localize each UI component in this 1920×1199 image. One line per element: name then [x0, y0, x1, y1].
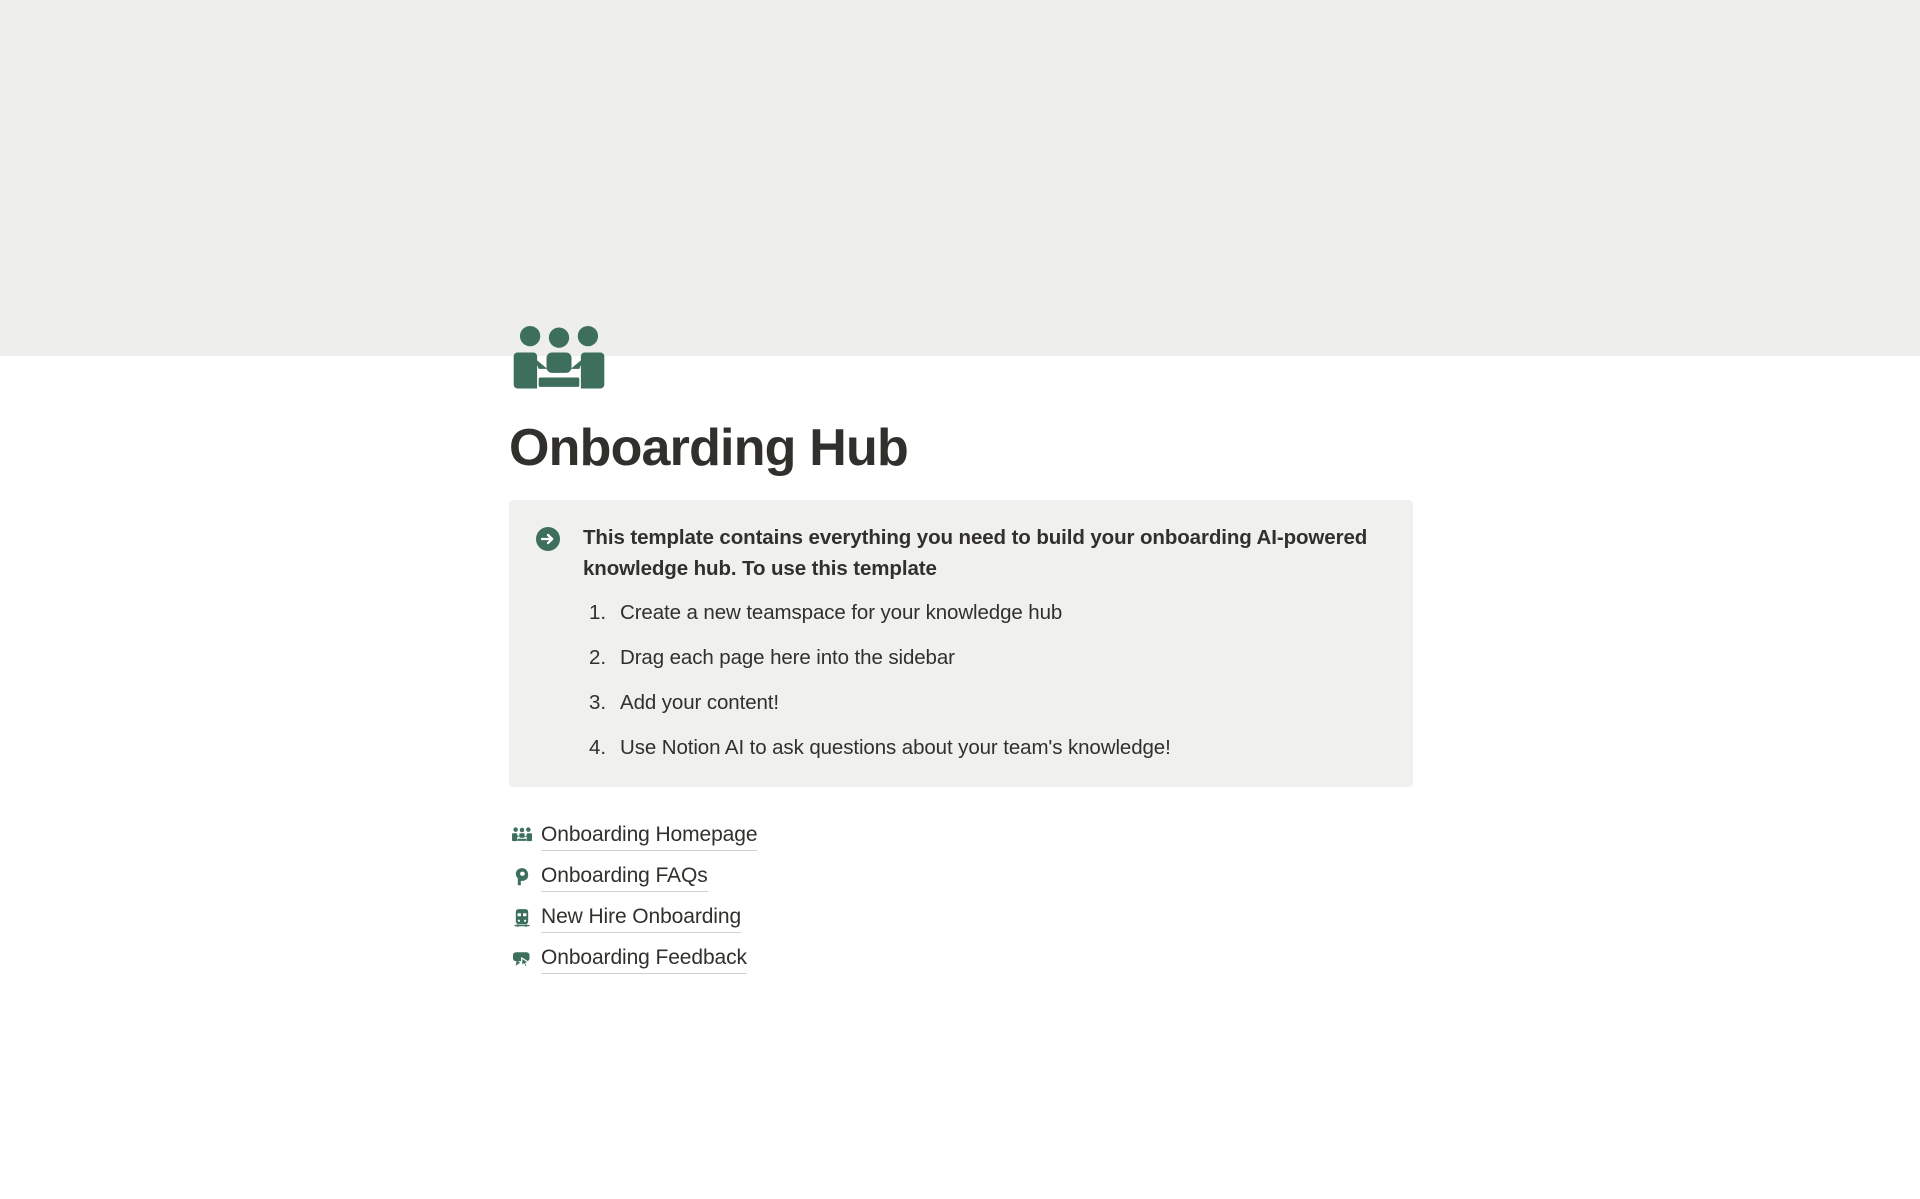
speech-bubble-cursor-icon — [509, 946, 535, 972]
green-circle-arrow-right-icon — [535, 526, 561, 552]
list-item: Create a new teamspace for your knowledg… — [583, 598, 1387, 628]
callout-body: This template contains everything you ne… — [583, 522, 1387, 763]
page-link-label[interactable]: New Hire Onboarding — [541, 903, 741, 933]
page-title: Onboarding Hub — [509, 417, 908, 479]
list-item: Add your content! — [583, 688, 1387, 718]
page-links-list: Onboarding Homepage Onboarding FAQs — [509, 815, 1413, 979]
list-item: Use Notion AI to ask questions about you… — [583, 733, 1387, 763]
page-link-label[interactable]: Onboarding FAQs — [541, 862, 708, 892]
page-link-onboarding-feedback[interactable]: Onboarding Feedback — [509, 938, 1413, 979]
callout-steps-list: Create a new teamspace for your knowledg… — [583, 598, 1387, 763]
page-link-new-hire-onboarding[interactable]: New Hire Onboarding — [509, 897, 1413, 938]
callout-heading: This template contains everything you ne… — [583, 522, 1387, 584]
page-link-onboarding-faqs[interactable]: Onboarding FAQs — [509, 856, 1413, 897]
people-at-table-icon — [509, 823, 535, 849]
page-link-label[interactable]: Onboarding Homepage — [541, 821, 757, 851]
list-item: Drag each page here into the sidebar — [583, 643, 1387, 673]
callout-block: This template contains everything you ne… — [509, 500, 1413, 787]
page-link-label[interactable]: Onboarding Feedback — [541, 944, 747, 974]
page-link-onboarding-homepage[interactable]: Onboarding Homepage — [509, 815, 1413, 856]
people-at-table-icon[interactable] — [509, 315, 609, 415]
tram-icon — [509, 905, 535, 931]
page-body: Onboarding Hub This template contains ev… — [0, 0, 1920, 1199]
head-question-icon — [509, 864, 535, 890]
